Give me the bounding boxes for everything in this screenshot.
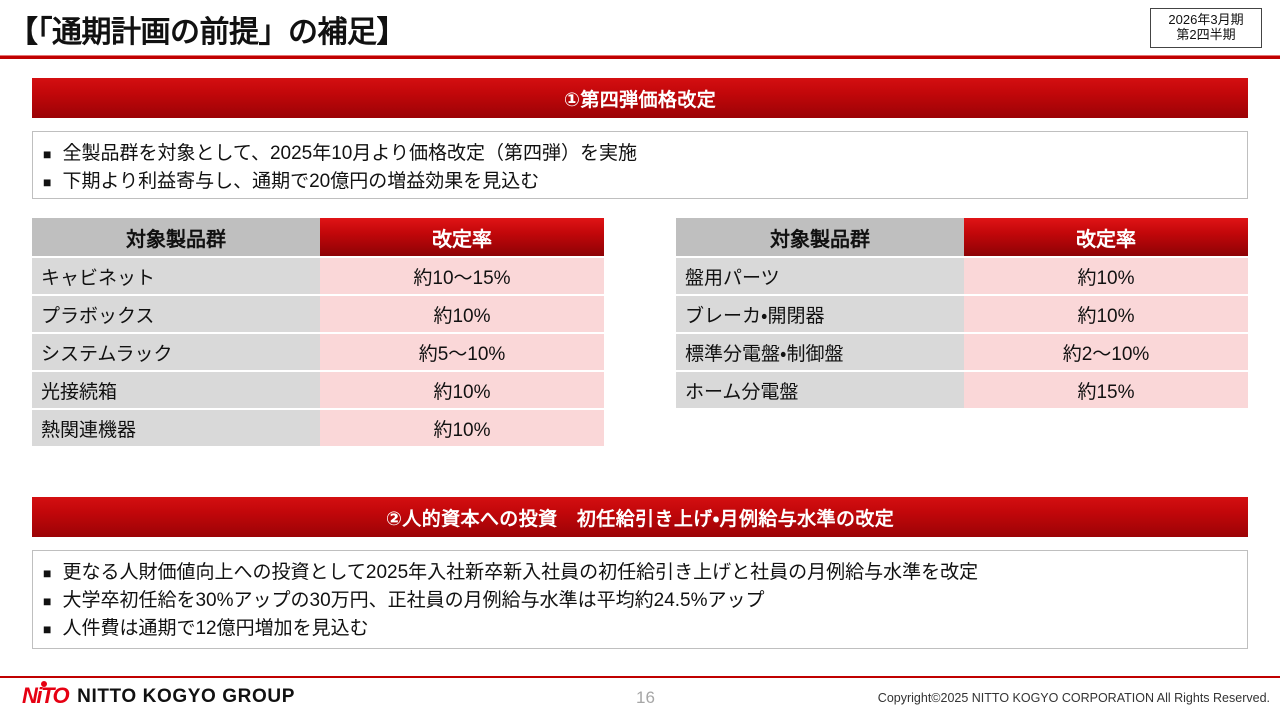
nito-logo-icon: NiTO (22, 685, 68, 707)
cell-revision-rate: 約10% (320, 408, 604, 446)
period-badge-line1: 2026年3月期 (1168, 13, 1243, 28)
section-banner-1: ①第四弾価格改定 (32, 78, 1248, 118)
bullet-text: 人件費は通期で12億円増加を見込む (62, 615, 368, 643)
company-name: NITTO KOGYO GROUP (77, 687, 295, 706)
cell-revision-rate: 約10〜15% (320, 256, 604, 294)
table-row: ホーム分電盤 約15% (676, 370, 1248, 408)
price-revision-table-right: 対象製品群 改定率 盤用パーツ 約10% ブレーカ・開閉器 約10% 標準分電盤… (676, 218, 1248, 408)
title-divider (0, 55, 1280, 59)
table-row: 熱関連機器 約10% (32, 408, 604, 446)
section-1-bullet-box: ■ 全製品群を対象として、2025年10月より価格改定（第四弾）を実施 ■ 下期… (32, 131, 1248, 199)
price-revision-table-left: 対象製品群 改定率 キャビネット 約10〜15% プラボックス 約10% システ… (32, 218, 604, 446)
page-title: 【「通期計画の前提」の補足】 (8, 7, 406, 51)
cell-product-group: 盤用パーツ (676, 256, 964, 294)
bullet-text: 大学卒初任給を30%アップの30万円、正社員の月例給与水準は平均約24.5%アッ… (62, 587, 764, 615)
period-badge: 2026年3月期 第2四半期 (1150, 8, 1262, 48)
title-bar: 【「通期計画の前提」の補足】 2026年3月期 第2四半期 (0, 0, 1280, 58)
copyright-notice: Copyright©2025 NITTO KOGYO CORPORATION A… (878, 691, 1270, 705)
cell-revision-rate: 約10% (964, 294, 1248, 332)
cell-product-group: システムラック (32, 332, 320, 370)
cell-product-group: 熱関連機器 (32, 408, 320, 446)
bullet-item: ■ 人件費は通期で12億円増加を見込む (43, 615, 1237, 643)
bullet-item: ■ 下期より利益寄与し、通期で20億円の増益効果を見込む (43, 168, 1237, 196)
bullet-item: ■ 大学卒初任給を30%アップの30万円、正社員の月例給与水準は平均約24.5%… (43, 587, 1237, 615)
bullet-item: ■ 更なる人財価値向上への投資として2025年入社新卒新入社員の初任給引き上げと… (43, 559, 1237, 587)
cell-product-group: 光接続箱 (32, 370, 320, 408)
table-row: ブレーカ・開閉器 約10% (676, 294, 1248, 332)
column-header-product-group: 対象製品群 (32, 218, 320, 256)
cell-revision-rate: 約15% (964, 370, 1248, 408)
table-row: キャビネット 約10〜15% (32, 256, 604, 294)
page-number: 16 (636, 688, 655, 708)
cell-product-group: ブレーカ・開閉器 (676, 294, 964, 332)
nito-logo-dot-icon (41, 681, 47, 687)
cell-revision-rate: 約2〜10% (964, 332, 1248, 370)
cell-revision-rate: 約10% (320, 294, 604, 332)
bullet-text: 更なる人財価値向上への投資として2025年入社新卒新入社員の初任給引き上げと社員… (62, 559, 978, 587)
table-row: 盤用パーツ 約10% (676, 256, 1248, 294)
cell-revision-rate: 約5〜10% (320, 332, 604, 370)
table-row: 光接続箱 約10% (32, 370, 604, 408)
bullet-text: 全製品群を対象として、2025年10月より価格改定（第四弾）を実施 (62, 140, 637, 168)
bullet-square-icon: ■ (43, 594, 51, 608)
bullet-square-icon: ■ (43, 622, 51, 636)
table-row: プラボックス 約10% (32, 294, 604, 332)
table-row: 標準分電盤・制御盤 約2〜10% (676, 332, 1248, 370)
cell-product-group: ホーム分電盤 (676, 370, 964, 408)
cell-revision-rate: 約10% (320, 370, 604, 408)
bullet-square-icon: ■ (43, 175, 51, 189)
company-logo: NiTO NITTO KOGYO GROUP (22, 685, 295, 707)
table-row: システムラック 約5〜10% (32, 332, 604, 370)
cell-product-group: キャビネット (32, 256, 320, 294)
column-header-revision-rate: 改定率 (964, 218, 1248, 256)
cell-revision-rate: 約10% (964, 256, 1248, 294)
cell-product-group: 標準分電盤・制御盤 (676, 332, 964, 370)
table-header-row: 対象製品群 改定率 (32, 218, 604, 256)
bullet-item: ■ 全製品群を対象として、2025年10月より価格改定（第四弾）を実施 (43, 140, 1237, 168)
bullet-text: 下期より利益寄与し、通期で20億円の増益効果を見込む (62, 168, 539, 196)
bullet-square-icon: ■ (43, 566, 51, 580)
column-header-revision-rate: 改定率 (320, 218, 604, 256)
section-banner-2: ②人的資本への投資 初任給引き上げ・月例給与水準の改定 (32, 497, 1248, 537)
bullet-square-icon: ■ (43, 147, 51, 161)
column-header-product-group: 対象製品群 (676, 218, 964, 256)
cell-product-group: プラボックス (32, 294, 320, 332)
section-2-bullet-box: ■ 更なる人財価値向上への投資として2025年入社新卒新入社員の初任給引き上げと… (32, 550, 1248, 649)
slide: 【「通期計画の前提」の補足】 2026年3月期 第2四半期 ①第四弾価格改定 ■… (0, 0, 1280, 720)
table-header-row: 対象製品群 改定率 (676, 218, 1248, 256)
period-badge-line2: 第2四半期 (1176, 28, 1235, 43)
